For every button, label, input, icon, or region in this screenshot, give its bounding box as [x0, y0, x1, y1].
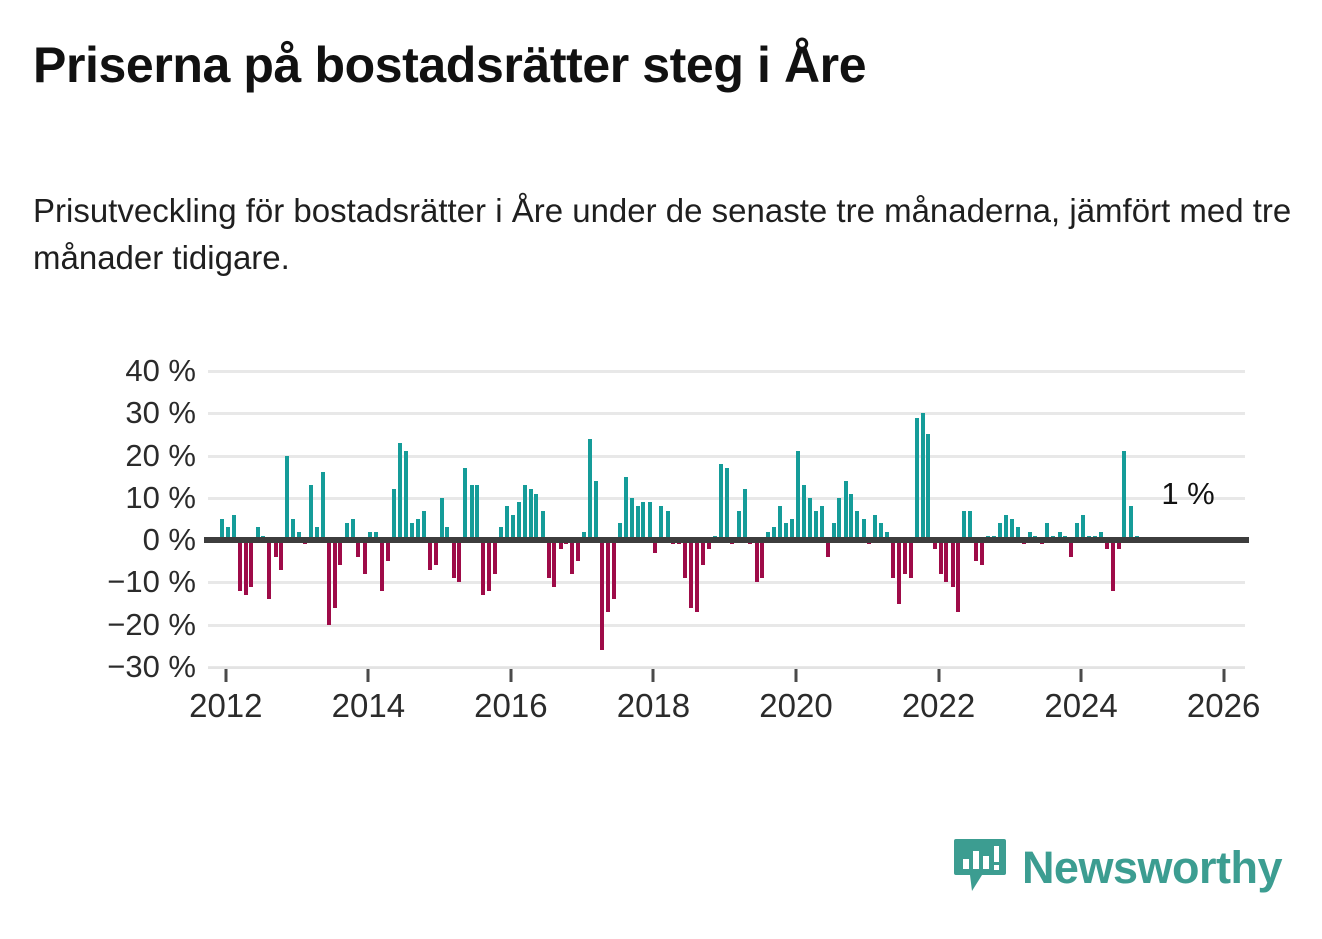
x-axis-tick [1222, 669, 1225, 682]
bar [695, 540, 699, 612]
x-axis-tick [794, 669, 797, 682]
bar [380, 540, 384, 591]
y-axis-labels: 40 %30 %20 %10 %0 %−10 %−20 %−30 % [0, 350, 196, 690]
x-axis-tick [652, 669, 655, 682]
bar [249, 540, 253, 587]
bar [285, 456, 289, 541]
bar [244, 540, 248, 595]
bar [980, 540, 984, 565]
y-axis-tick-label: 20 % [125, 438, 196, 474]
x-axis-tick-label: 2020 [759, 687, 832, 725]
bar [547, 540, 551, 578]
last-value-annotation: 1 % [1161, 476, 1214, 512]
bar [909, 540, 913, 578]
bar [309, 485, 313, 540]
bar [820, 506, 824, 540]
bar [939, 540, 943, 574]
bar [1111, 540, 1115, 591]
bar [529, 489, 533, 540]
bar-series [208, 371, 1245, 667]
bar [434, 540, 438, 565]
bar [624, 477, 628, 540]
x-axis-tick-label: 2022 [902, 687, 975, 725]
bar [802, 485, 806, 540]
bar [398, 443, 402, 540]
bar [701, 540, 705, 565]
bar [719, 464, 723, 540]
bar [238, 540, 242, 591]
bar [743, 489, 747, 540]
bar [962, 511, 966, 541]
bar [814, 511, 818, 541]
bar [327, 540, 331, 625]
bar [944, 540, 948, 582]
bar [666, 511, 670, 541]
bar [612, 540, 616, 599]
bar [404, 451, 408, 540]
bar-chart: 40 %30 %20 %10 %0 %−10 %−20 %−30 % 20122… [0, 350, 1322, 750]
x-axis-tick-label: 2014 [332, 687, 405, 725]
bar [796, 451, 800, 540]
bar [891, 540, 895, 578]
bar [725, 468, 729, 540]
bar [921, 413, 925, 540]
bar [968, 511, 972, 541]
zero-line [204, 537, 1249, 543]
bar [648, 502, 652, 540]
y-axis-tick-label: 40 % [125, 353, 196, 389]
bar [808, 498, 812, 540]
bar [659, 506, 663, 540]
bar [487, 540, 491, 591]
x-axis-line [208, 667, 1245, 669]
y-axis-tick-label: −10 % [107, 564, 196, 600]
bar [926, 434, 930, 540]
bar [570, 540, 574, 574]
bar [951, 540, 955, 587]
x-axis-tick-label: 2018 [617, 687, 690, 725]
bar [386, 540, 390, 561]
bar [683, 540, 687, 578]
x-axis: 20122014201620182020202220242026 [208, 667, 1245, 747]
bar [689, 540, 693, 608]
bar [1129, 506, 1133, 540]
bar [588, 439, 592, 540]
y-axis-tick-label: 30 % [125, 395, 196, 431]
bar [956, 540, 960, 612]
bar [855, 511, 859, 541]
bar [760, 540, 764, 578]
bar [636, 506, 640, 540]
newsworthy-bubble-icon [952, 837, 1008, 897]
bar [470, 485, 474, 540]
bar [778, 506, 782, 540]
bar [755, 540, 759, 582]
bar [837, 498, 841, 540]
bar [463, 468, 467, 540]
bar [321, 472, 325, 540]
bar [630, 498, 634, 540]
x-axis-tick-label: 2016 [474, 687, 547, 725]
bar [267, 540, 271, 599]
bar [440, 498, 444, 540]
x-axis-tick [224, 669, 227, 682]
bar [333, 540, 337, 608]
bar [844, 481, 848, 540]
bar [534, 494, 538, 541]
bar [1122, 451, 1126, 540]
plot-area [208, 371, 1245, 667]
bar [594, 481, 598, 540]
x-axis-tick [509, 669, 512, 682]
bar [897, 540, 901, 603]
bar [475, 485, 479, 540]
y-axis-tick-label: −30 % [107, 649, 196, 685]
bar [849, 494, 853, 541]
bar [737, 511, 741, 541]
x-axis-tick-label: 2026 [1187, 687, 1260, 725]
bar [903, 540, 907, 574]
x-axis-tick-label: 2012 [189, 687, 262, 725]
chart-page: Priserna på bostadsrätter steg i Åre Pri… [0, 0, 1322, 939]
bar [517, 502, 521, 540]
bar [457, 540, 461, 582]
bar [428, 540, 432, 570]
bar [606, 540, 610, 612]
page-title: Priserna på bostadsrätter steg i Åre [33, 38, 866, 93]
bar [552, 540, 556, 587]
bar [363, 540, 367, 574]
y-axis-tick-label: −20 % [107, 607, 196, 643]
bar [422, 511, 426, 541]
bar [576, 540, 580, 561]
bar [915, 418, 919, 541]
bar [338, 540, 342, 565]
newsworthy-wordmark: Newsworthy [1022, 845, 1282, 890]
bar [641, 502, 645, 540]
newsworthy-logo: Newsworthy [952, 837, 1282, 897]
y-axis-tick-label: 10 % [125, 480, 196, 516]
bar [493, 540, 497, 574]
y-axis-tick-label: 0 % [143, 522, 196, 558]
x-axis-tick-label: 2024 [1044, 687, 1117, 725]
bar [505, 506, 509, 540]
bar [279, 540, 283, 570]
bar [600, 540, 604, 650]
bar [541, 511, 545, 541]
bar [392, 489, 396, 540]
page-subtitle: Prisutveckling för bostadsrätter i Åre u… [33, 188, 1293, 282]
x-axis-tick [937, 669, 940, 682]
x-axis-tick [1080, 669, 1083, 682]
bar [452, 540, 456, 578]
x-axis-tick [367, 669, 370, 682]
bar [974, 540, 978, 561]
bar [481, 540, 485, 595]
bar [523, 485, 527, 540]
